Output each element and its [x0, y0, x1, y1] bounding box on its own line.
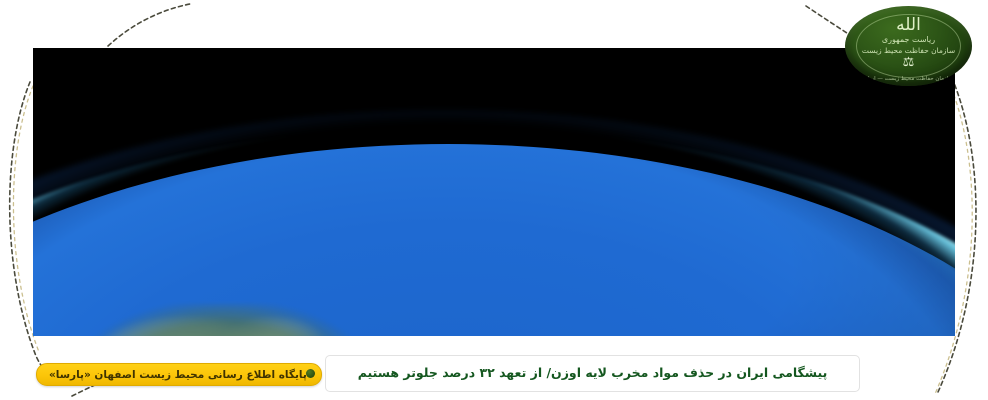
scales-icon: ⚖: [845, 56, 972, 69]
logo-line-1: ریاست جمهوری: [845, 35, 972, 45]
headline-text: پیشگامی ایران در حذف مواد مخرب لایه اوزن…: [358, 365, 828, 382]
logo-line-2: سازمان حفاظت محیط زیست: [845, 46, 972, 55]
logo-arc-text: سازمان حفاظت محیط زیست — ایران: [859, 76, 958, 82]
earth-ozone-layer-photo: [33, 48, 955, 336]
iran-emblem-icon: الله: [845, 17, 972, 34]
ozone-layer-band: [33, 126, 955, 336]
headline-box[interactable]: پیشگامی ایران در حذف مواد مخرب لایه اوزن…: [325, 355, 860, 392]
department-of-environment-logo[interactable]: الله ریاست جمهوری سازمان حفاظت محیط زیست…: [845, 6, 972, 86]
caption-row: پایگاه اطلاع رسانی محیط زیست اصفهان «پار…: [0, 352, 988, 396]
top-left-dashed-arc: [108, 4, 190, 46]
news-banner-page: الله ریاست جمهوری سازمان حفاظت محیط زیست…: [0, 0, 988, 400]
source-badge[interactable]: پایگاه اطلاع رسانی محیط زیست اصفهان «پار…: [36, 363, 322, 386]
badge-connector-dot: [306, 369, 315, 378]
